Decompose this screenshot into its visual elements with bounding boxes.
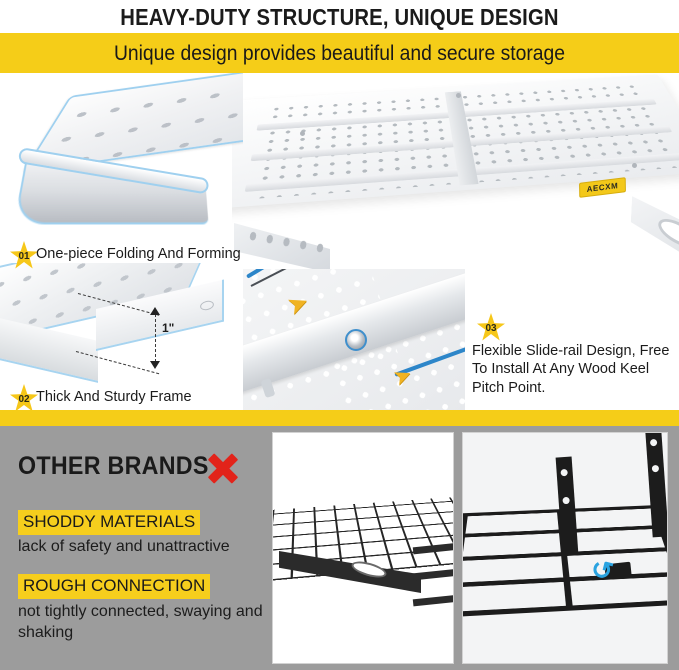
section-divider xyxy=(0,410,679,426)
dimension-value: 1" xyxy=(162,321,174,335)
screw-dot xyxy=(456,93,461,98)
comparison-point-highlight-1: SHODDY MATERIALS xyxy=(18,510,200,535)
frame-detail-photo: 1" xyxy=(0,263,243,388)
comparison-point-highlight-2: ROUGH CONNECTION xyxy=(18,574,210,599)
rail-screw xyxy=(345,329,367,351)
slide-rail-detail-photo: ➤ ➤ xyxy=(243,269,465,412)
competitor-photo-frame-shelf: ↺ xyxy=(462,432,668,664)
page-subtitle: Unique design provides beautiful and sec… xyxy=(27,33,652,73)
feature-number: 03 xyxy=(485,323,496,334)
comparison-point-detail-1: lack of safety and unattractive xyxy=(18,537,230,558)
dimension-arrow-down-icon xyxy=(150,361,160,369)
screw-dot xyxy=(632,163,637,168)
feature-label-01: One-piece Folding And Forming xyxy=(36,245,241,263)
comparison-section: OTHER BRANDS SHODDY MATERIALS lack of sa… xyxy=(0,426,679,670)
header-band: Unique design provides beautiful and sec… xyxy=(0,33,679,73)
screw-dot xyxy=(300,131,305,136)
page-title: HEAVY-DUTY STRUCTURE, UNIQUE DESIGN xyxy=(41,1,639,33)
feature-label-02: Thick And Sturdy Frame xyxy=(36,388,192,406)
product-shelf-photo: AECXM xyxy=(232,73,679,273)
competitor-photo-wire-shelf xyxy=(272,432,454,664)
feature-number: 01 xyxy=(18,251,29,262)
feature-label-03: Flexible Slide-rail Design, Free To Inst… xyxy=(472,342,674,397)
comparison-point-detail-2: not tightly connected, swaying and shaki… xyxy=(18,602,266,644)
dimension-line xyxy=(155,309,156,367)
comparison-heading: OTHER BRANDS xyxy=(18,452,209,481)
dimension-arrow-up-icon xyxy=(150,307,160,315)
infographic-page: HEAVY-DUTY STRUCTURE, UNIQUE DESIGN Uniq… xyxy=(0,0,679,670)
feature-number: 02 xyxy=(18,394,29,405)
red-x-icon xyxy=(198,448,246,488)
wall-rail-group xyxy=(413,545,454,625)
folding-detail-photo xyxy=(0,73,243,248)
